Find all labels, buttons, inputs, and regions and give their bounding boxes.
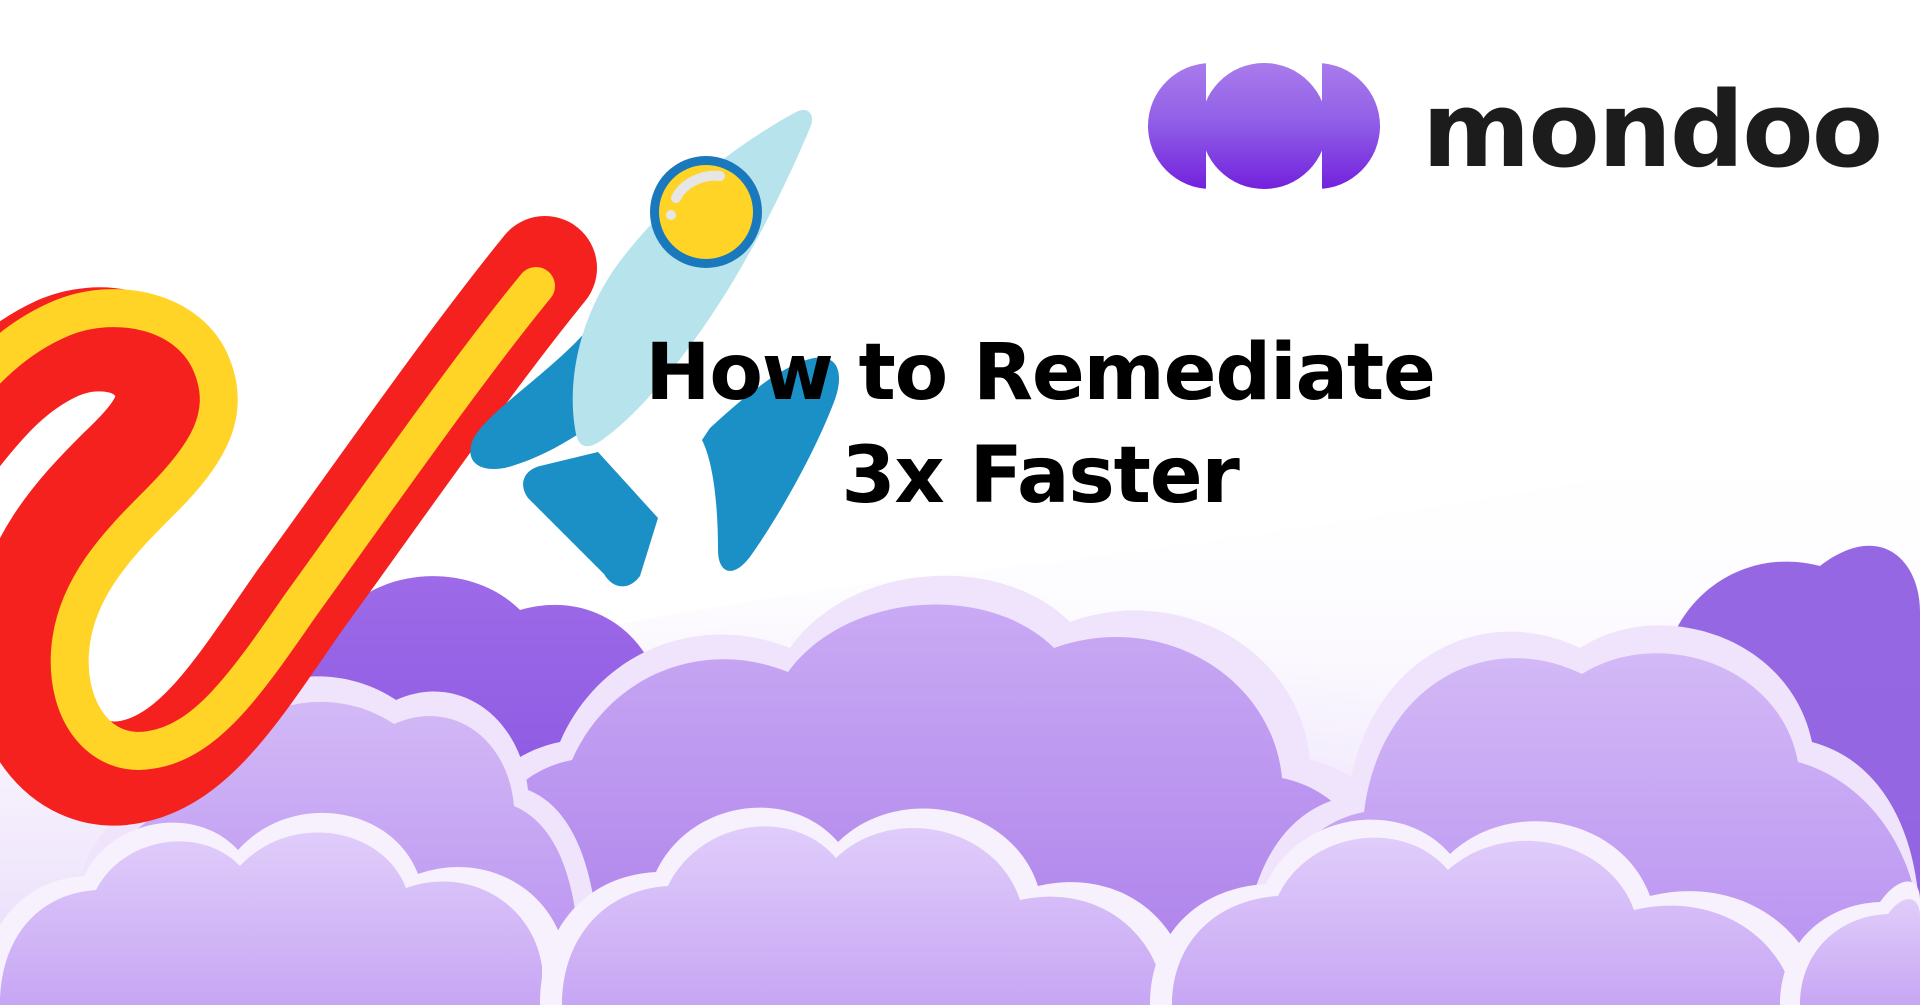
headline-line-2: 3x Faster [640,425,1440,528]
rocket-nozzle [523,452,658,586]
banner-canvas: mondoo How to Remediate 3x Faster [0,0,1920,1005]
headline-line-1: How to Remediate [640,322,1440,425]
rocket-window-glint-dot [666,210,676,220]
headline-block: How to Remediate 3x Faster [640,322,1440,528]
